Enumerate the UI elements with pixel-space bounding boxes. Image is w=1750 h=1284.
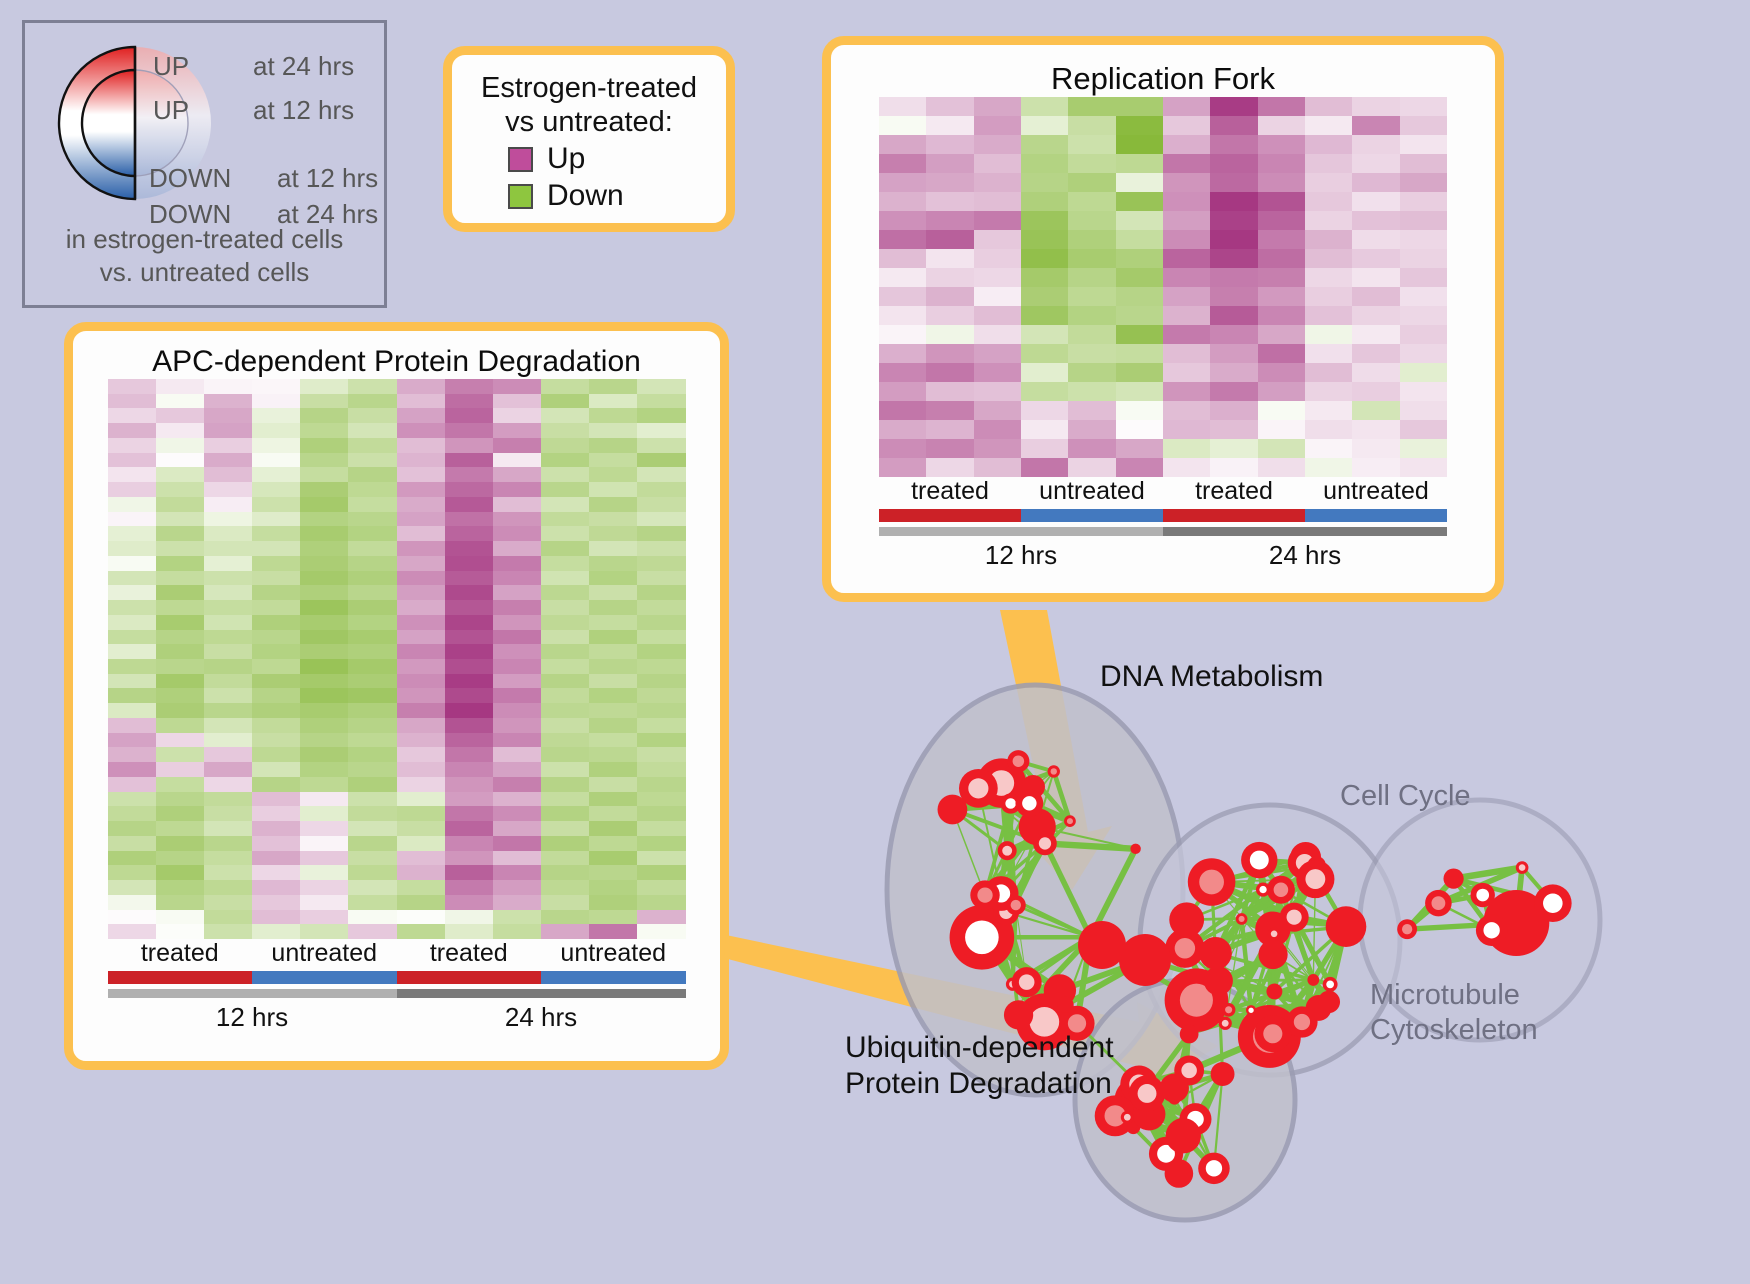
- heatmap-cell: [879, 287, 926, 306]
- network-node-core: [965, 921, 999, 955]
- heatmap-cell: [1305, 154, 1352, 173]
- network-node[interactable]: [1296, 860, 1334, 898]
- heatmap-cell: [879, 363, 926, 382]
- heatmap-cell: [637, 394, 685, 409]
- heatmap-cell: [156, 615, 204, 630]
- heatmap-cell: [541, 880, 589, 895]
- heatmap-cell: [156, 585, 204, 600]
- heatmap-cell: [204, 585, 252, 600]
- heatmap-cell: [493, 674, 541, 689]
- heatmap-cell: [493, 688, 541, 703]
- heatmap-cell: [1305, 458, 1352, 477]
- heatmap-cell: [637, 556, 685, 571]
- heatmap-cell: [1021, 458, 1068, 477]
- colorwheel-caption-line1: in estrogen-treated cells: [25, 223, 384, 256]
- heatmap-cell: [348, 659, 396, 674]
- heatmap-cell: [1305, 439, 1352, 458]
- network-node[interactable]: [1219, 1017, 1232, 1030]
- heatmap-cell: [445, 482, 493, 497]
- heatmap-cell: [589, 718, 637, 733]
- heatmap-cell: [1210, 420, 1257, 439]
- heatmap-cell: [1352, 268, 1399, 287]
- heatmap-cell: [1021, 135, 1068, 154]
- heatmap-cell: [879, 154, 926, 173]
- heatmap-cell: [300, 615, 348, 630]
- network-diagram: DNA Metabolism Cell Cycle Microtubule Cy…: [790, 600, 1750, 1279]
- heatmap-cell: [1116, 325, 1163, 344]
- network-node[interactable]: [1254, 1015, 1291, 1052]
- network-node[interactable]: [1198, 1153, 1229, 1184]
- network-node[interactable]: [1015, 789, 1043, 817]
- heatmap-cell: [974, 192, 1021, 211]
- heatmap-cell: [493, 792, 541, 807]
- heatmap-cell: [108, 408, 156, 423]
- network-node-core: [1543, 893, 1563, 913]
- heatmap-cell: [108, 688, 156, 703]
- heatmap-cell: [252, 880, 300, 895]
- axis-group-label: untreated: [1021, 477, 1163, 509]
- heatmap-cell: [1163, 458, 1210, 477]
- heatmap-cell: [1210, 344, 1257, 363]
- network-node[interactable]: [1306, 995, 1332, 1021]
- heatmap-cell: [926, 325, 973, 344]
- heatmap-cell: [926, 306, 973, 325]
- network-node[interactable]: [1241, 842, 1277, 878]
- heatmap-cell: [1163, 135, 1210, 154]
- heatmap-cell: [1400, 97, 1447, 116]
- network-node[interactable]: [1323, 977, 1338, 992]
- heatmap-cell: [252, 659, 300, 674]
- network-node[interactable]: [1267, 876, 1295, 904]
- heatmap-cell: [926, 192, 973, 211]
- heatmap-cell: [1305, 325, 1352, 344]
- colorwheel-caption-line2: vs. untreated cells: [25, 256, 384, 289]
- heatmap-cell: [252, 851, 300, 866]
- heatmap-cell: [348, 453, 396, 468]
- heatmap-cell: [1163, 287, 1210, 306]
- heatmap-cell: [300, 674, 348, 689]
- heatmap-cell: [445, 423, 493, 438]
- network-node[interactable]: [1119, 934, 1171, 986]
- heatmap-cell: [204, 674, 252, 689]
- heatmap-cell: [1305, 249, 1352, 268]
- heatmap-cell: [926, 211, 973, 230]
- heatmap-cell: [1068, 173, 1115, 192]
- heatmap-cell: [445, 910, 493, 925]
- heatmap-cell: [108, 600, 156, 615]
- heatmap-cell: [348, 467, 396, 482]
- heatmap-cell: [589, 423, 637, 438]
- heatmap-cell: [637, 497, 685, 512]
- heatmap-cell: [1258, 97, 1305, 116]
- heatmap-cell: [348, 600, 396, 615]
- heatmap-cell: [1116, 154, 1163, 173]
- heatmap-cell: [974, 230, 1021, 249]
- heatmap-cell: [252, 674, 300, 689]
- heatmap-cell: [1305, 382, 1352, 401]
- heatmap-cell: [493, 865, 541, 880]
- heatmap-cell: [541, 777, 589, 792]
- heatmap-cell: [397, 718, 445, 733]
- heatmap-cell: [926, 116, 973, 135]
- heatmap-cell: [1068, 97, 1115, 116]
- heatmap-cell: [541, 674, 589, 689]
- heatmap-cell: [348, 630, 396, 645]
- heatmap-cell: [108, 423, 156, 438]
- network-node[interactable]: [1130, 844, 1140, 854]
- heatmap-cell: [1352, 192, 1399, 211]
- heatmap-cell: [348, 438, 396, 453]
- heatmap-cell: [589, 600, 637, 615]
- heatmap-cell: [445, 851, 493, 866]
- network-node[interactable]: [1007, 750, 1029, 772]
- network-node[interactable]: [1064, 815, 1076, 827]
- heatmap-cell: [397, 747, 445, 762]
- heatmap-cell: [637, 408, 685, 423]
- heatmap-cell: [1258, 211, 1305, 230]
- heatmap-cell: [252, 836, 300, 851]
- heatmap-cell: [1352, 306, 1399, 325]
- heatmap-cell: [108, 703, 156, 718]
- heatmap-cell: [108, 836, 156, 851]
- network-node[interactable]: [1169, 902, 1204, 937]
- heatmap-cell: [108, 865, 156, 880]
- heatmap-cell: [1021, 173, 1068, 192]
- network-node-core: [1294, 1014, 1310, 1030]
- heatmap-cell: [493, 453, 541, 468]
- heatmap-cell: [445, 806, 493, 821]
- heatmap-cell: [108, 556, 156, 571]
- heatmap-cell: [589, 453, 637, 468]
- heatmap-cell: [348, 556, 396, 571]
- axis-group-label: treated: [397, 939, 542, 971]
- heatmap-cell: [1352, 458, 1399, 477]
- heatmap-cell: [108, 379, 156, 394]
- heatmap-cell: [348, 497, 396, 512]
- network-node[interactable]: [1211, 1062, 1235, 1086]
- heatmap-cell: [348, 615, 396, 630]
- network-node-core: [1222, 1020, 1229, 1027]
- heatmap-cell: [445, 512, 493, 527]
- heatmap-cell: [637, 806, 685, 821]
- heatmap-cell: [493, 571, 541, 586]
- heatmap-cell: [445, 526, 493, 541]
- network-node[interactable]: [1048, 765, 1060, 777]
- heatmap-cell: [156, 438, 204, 453]
- heatmap-cell: [1021, 382, 1068, 401]
- heatmap-cell: [300, 703, 348, 718]
- heatmap-cell: [348, 718, 396, 733]
- network-node[interactable]: [1425, 890, 1452, 917]
- heatmap-cell: [637, 674, 685, 689]
- heatmap-cell: [1163, 325, 1210, 344]
- heatmap-cell: [1400, 211, 1447, 230]
- heatmap-cell: [397, 497, 445, 512]
- heatmap-cell: [541, 910, 589, 925]
- heatmap-cell: [1258, 249, 1305, 268]
- heatmap-cell: [397, 688, 445, 703]
- legend-item-up: Up: [508, 142, 726, 176]
- network-node-core: [1013, 755, 1025, 767]
- network-node-core: [1431, 896, 1445, 910]
- heatmap-cell: [204, 880, 252, 895]
- heatmap-cell: [1210, 382, 1257, 401]
- network-node[interactable]: [1199, 937, 1232, 970]
- heatmap-cell: [1116, 287, 1163, 306]
- network-node-core: [1259, 886, 1266, 893]
- heatmap-cell: [1400, 401, 1447, 420]
- heatmap-cell: [397, 630, 445, 645]
- heatmap-cell: [397, 556, 445, 571]
- axis-time-label: 12 hrs: [879, 536, 1163, 571]
- heatmap-cell: [1258, 363, 1305, 382]
- axis-time-bar: [397, 989, 686, 998]
- heatmap-cell: [637, 541, 685, 556]
- heatmap-cell: [1163, 116, 1210, 135]
- heatmap-cell: [252, 497, 300, 512]
- network-node[interactable]: [1534, 884, 1572, 922]
- heatmap-cell: [204, 792, 252, 807]
- network-node[interactable]: [1129, 1075, 1165, 1111]
- network-node[interactable]: [959, 769, 998, 808]
- wheel-ring-time-down12: at 12 hrs: [277, 163, 378, 194]
- heatmap-cell: [156, 733, 204, 748]
- network-node[interactable]: [998, 841, 1017, 860]
- network-node[interactable]: [1204, 966, 1233, 995]
- heatmap-cell: [1210, 306, 1257, 325]
- axis-group-bar: [541, 971, 686, 984]
- heatmap-cell: [397, 423, 445, 438]
- heatmap-cell: [541, 630, 589, 645]
- heatmap-cell: [204, 688, 252, 703]
- heatmap-cell: [397, 526, 445, 541]
- heatmap-cell: [1305, 287, 1352, 306]
- heatmap-cell: [252, 453, 300, 468]
- panel-title-apc-degradation: APC-dependent Protein Degradation: [73, 345, 720, 379]
- network-node[interactable]: [1006, 895, 1026, 915]
- heatmap-cell: [1021, 344, 1068, 363]
- heatmap-cell: [1210, 154, 1257, 173]
- network-node[interactable]: [1307, 974, 1319, 986]
- heatmap-cell: [204, 777, 252, 792]
- heatmap-cell: [156, 674, 204, 689]
- heatmap-cell: [1021, 192, 1068, 211]
- heatmap-cell: [637, 615, 685, 630]
- heatmap-cell: [348, 792, 396, 807]
- network-node[interactable]: [1397, 919, 1417, 939]
- heatmap-cell: [1116, 173, 1163, 192]
- heatmap-cell: [300, 482, 348, 497]
- heatmap-cell: [300, 526, 348, 541]
- heatmap-cell: [1352, 439, 1399, 458]
- network-node[interactable]: [1012, 967, 1042, 997]
- heatmap-cell: [445, 821, 493, 836]
- heatmap-cell: [589, 703, 637, 718]
- network-node[interactable]: [1222, 1003, 1236, 1017]
- heatmap-cell: [156, 541, 204, 556]
- network-node-core: [1039, 837, 1051, 849]
- heatmap-cell: [397, 924, 445, 939]
- network-node[interactable]: [1121, 1111, 1134, 1124]
- heatmap-cell: [204, 423, 252, 438]
- network-node[interactable]: [1246, 1005, 1256, 1015]
- heatmap-cell: [541, 571, 589, 586]
- network-node[interactable]: [1476, 915, 1507, 946]
- heatmap-cell: [156, 482, 204, 497]
- network-node[interactable]: [1266, 984, 1282, 1000]
- heatmap-cell: [1400, 344, 1447, 363]
- heatmap-cell: [1258, 458, 1305, 477]
- heatmap-cell: [1116, 363, 1163, 382]
- heatmap-cell: [1210, 97, 1257, 116]
- heatmap-cell: [1021, 249, 1068, 268]
- heatmap-cell: [1305, 306, 1352, 325]
- heatmap-cell: [300, 895, 348, 910]
- updown-legend-title-line2: vs untreated:: [452, 105, 726, 139]
- heatmap-cell: [445, 556, 493, 571]
- heatmap-cell: [397, 467, 445, 482]
- heatmap-cell: [1021, 230, 1068, 249]
- heatmap-cell: [108, 526, 156, 541]
- network-node[interactable]: [1268, 927, 1281, 940]
- heatmap-cell: [1210, 116, 1257, 135]
- heatmap-cell: [493, 644, 541, 659]
- heatmap-cell: [108, 659, 156, 674]
- heatmap-cell: [252, 688, 300, 703]
- heatmap-cell: [1163, 230, 1210, 249]
- heatmap-cell: [108, 674, 156, 689]
- heatmap-cell: [493, 556, 541, 571]
- heatmap-cell: [637, 851, 685, 866]
- heatmap-cell: [300, 453, 348, 468]
- heatmap-cell: [926, 173, 973, 192]
- network-node[interactable]: [1471, 883, 1495, 907]
- heatmap-cell: [252, 747, 300, 762]
- heatmap-cell: [348, 585, 396, 600]
- network-node[interactable]: [1033, 832, 1057, 856]
- heatmap-cell: [637, 703, 685, 718]
- heatmap-cell: [445, 453, 493, 468]
- heatmap-cell: [1352, 211, 1399, 230]
- heatmap-cell: [1352, 420, 1399, 439]
- heatmap-cell: [541, 467, 589, 482]
- heatmap-cell: [493, 851, 541, 866]
- network-node[interactable]: [1058, 997, 1074, 1013]
- heatmap-cell: [397, 659, 445, 674]
- heatmap-cell: [108, 792, 156, 807]
- heatmap-cell: [397, 408, 445, 423]
- heatmap-cell: [1258, 306, 1305, 325]
- network-node[interactable]: [1326, 906, 1367, 947]
- heatmap-cell: [108, 718, 156, 733]
- network-node[interactable]: [1166, 1118, 1201, 1153]
- heatmap-cell: [252, 821, 300, 836]
- network-node[interactable]: [1165, 1159, 1194, 1188]
- heatmap-cell: [348, 924, 396, 939]
- cluster-label-microtubule-cytoskeleton: Microtubule Cytoskeleton: [1370, 978, 1538, 1048]
- heatmap-cell: [204, 644, 252, 659]
- heatmap-cell: [156, 467, 204, 482]
- network-node[interactable]: [970, 880, 999, 909]
- heatmap-cell: [541, 497, 589, 512]
- heatmap-cell: [493, 718, 541, 733]
- network-node-core: [977, 887, 992, 902]
- heatmap-cell: [637, 910, 685, 925]
- heatmap-cell: [589, 585, 637, 600]
- heatmap-cell: [300, 644, 348, 659]
- network-node[interactable]: [1443, 869, 1463, 889]
- heatmap-cell: [252, 644, 300, 659]
- heatmap-cell: [1352, 154, 1399, 173]
- heatmap-cell: [1400, 439, 1447, 458]
- heatmap-cell: [493, 615, 541, 630]
- heatmap-cell: [1305, 344, 1352, 363]
- heatmap-cell: [879, 458, 926, 477]
- heatmap-cell: [300, 512, 348, 527]
- axis-time-bars-replication-fork: [879, 527, 1447, 536]
- heatmap-cell: [156, 630, 204, 645]
- heatmap-cell: [637, 453, 685, 468]
- network-node[interactable]: [1516, 861, 1529, 874]
- heatmap-cell: [204, 910, 252, 925]
- heatmap-cell: [1210, 135, 1257, 154]
- heatmap-cell: [541, 556, 589, 571]
- heatmap-cell: [926, 458, 973, 477]
- heatmap-cell: [879, 249, 926, 268]
- heatmap-cell: [204, 571, 252, 586]
- heatmap-cell: [156, 571, 204, 586]
- heatmap-cell: [541, 836, 589, 851]
- network-node[interactable]: [1236, 913, 1248, 925]
- network-node[interactable]: [1280, 903, 1309, 932]
- network-node[interactable]: [1004, 1000, 1033, 1029]
- legend-item-down: Down: [508, 179, 726, 213]
- heatmap-cell: [637, 688, 685, 703]
- heatmap-cell: [637, 585, 685, 600]
- cluster-label-microtubule: Microtubule: [1370, 978, 1538, 1013]
- heatmap-cell: [1305, 211, 1352, 230]
- heatmap-cell: [493, 585, 541, 600]
- heatmap-cell: [589, 895, 637, 910]
- network-node-core: [1175, 938, 1195, 958]
- network-node-core: [1287, 910, 1302, 925]
- network-node[interactable]: [1258, 940, 1287, 969]
- heatmap-cell: [926, 382, 973, 401]
- axis-group-bar: [1021, 509, 1163, 522]
- heatmap-cell: [541, 615, 589, 630]
- heatmap-cell: [1258, 344, 1305, 363]
- network-node[interactable]: [1188, 858, 1236, 906]
- heatmap-cell: [637, 482, 685, 497]
- heatmap-cell: [541, 379, 589, 394]
- heatmap-cell: [300, 541, 348, 556]
- heatmap-cell: [397, 379, 445, 394]
- heatmap-cell: [397, 674, 445, 689]
- heatmap-cell: [589, 556, 637, 571]
- network-node[interactable]: [1174, 1056, 1204, 1086]
- heatmap-cell: [637, 792, 685, 807]
- heatmap-cell: [252, 379, 300, 394]
- network-node[interactable]: [1078, 921, 1126, 969]
- network-node[interactable]: [1180, 1025, 1199, 1044]
- axis-time-bar: [1163, 527, 1447, 536]
- heatmap-cell: [541, 438, 589, 453]
- heatmap-cell: [445, 880, 493, 895]
- heatmap-cell: [348, 777, 396, 792]
- heatmap-cell: [1163, 268, 1210, 287]
- heatmap-cell: [589, 497, 637, 512]
- heatmap-cell: [493, 821, 541, 836]
